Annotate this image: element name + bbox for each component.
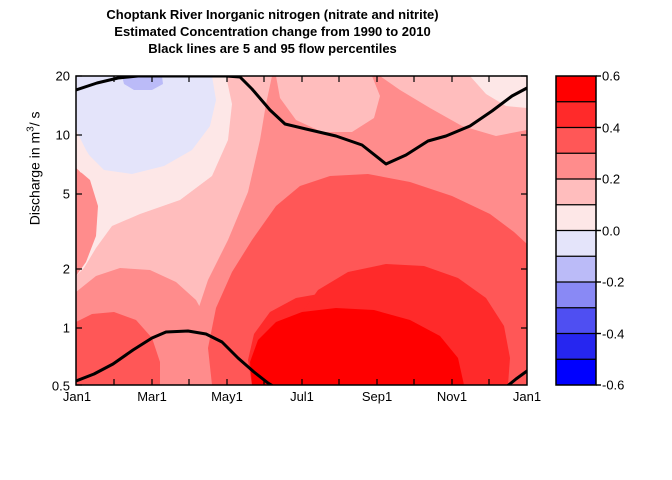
colorbar-band (556, 179, 596, 205)
colorbar-band (556, 231, 596, 257)
colorbar-band (556, 308, 596, 334)
colorbar-band (556, 205, 596, 231)
colorbar-band (556, 256, 596, 282)
colorbar-band (556, 76, 596, 102)
colorbar-band (556, 359, 596, 385)
figure-root: Choptank River Inorganic nitrogen (nitra… (0, 0, 672, 480)
colorbar-band (556, 153, 596, 179)
contour-plot-svg (0, 0, 672, 480)
colorbar-band (556, 102, 596, 128)
colorbar (556, 76, 601, 385)
colorbar-band (556, 334, 596, 360)
contour-bands (76, 76, 527, 385)
colorbar-band (556, 282, 596, 308)
colorbar-band (556, 128, 596, 154)
